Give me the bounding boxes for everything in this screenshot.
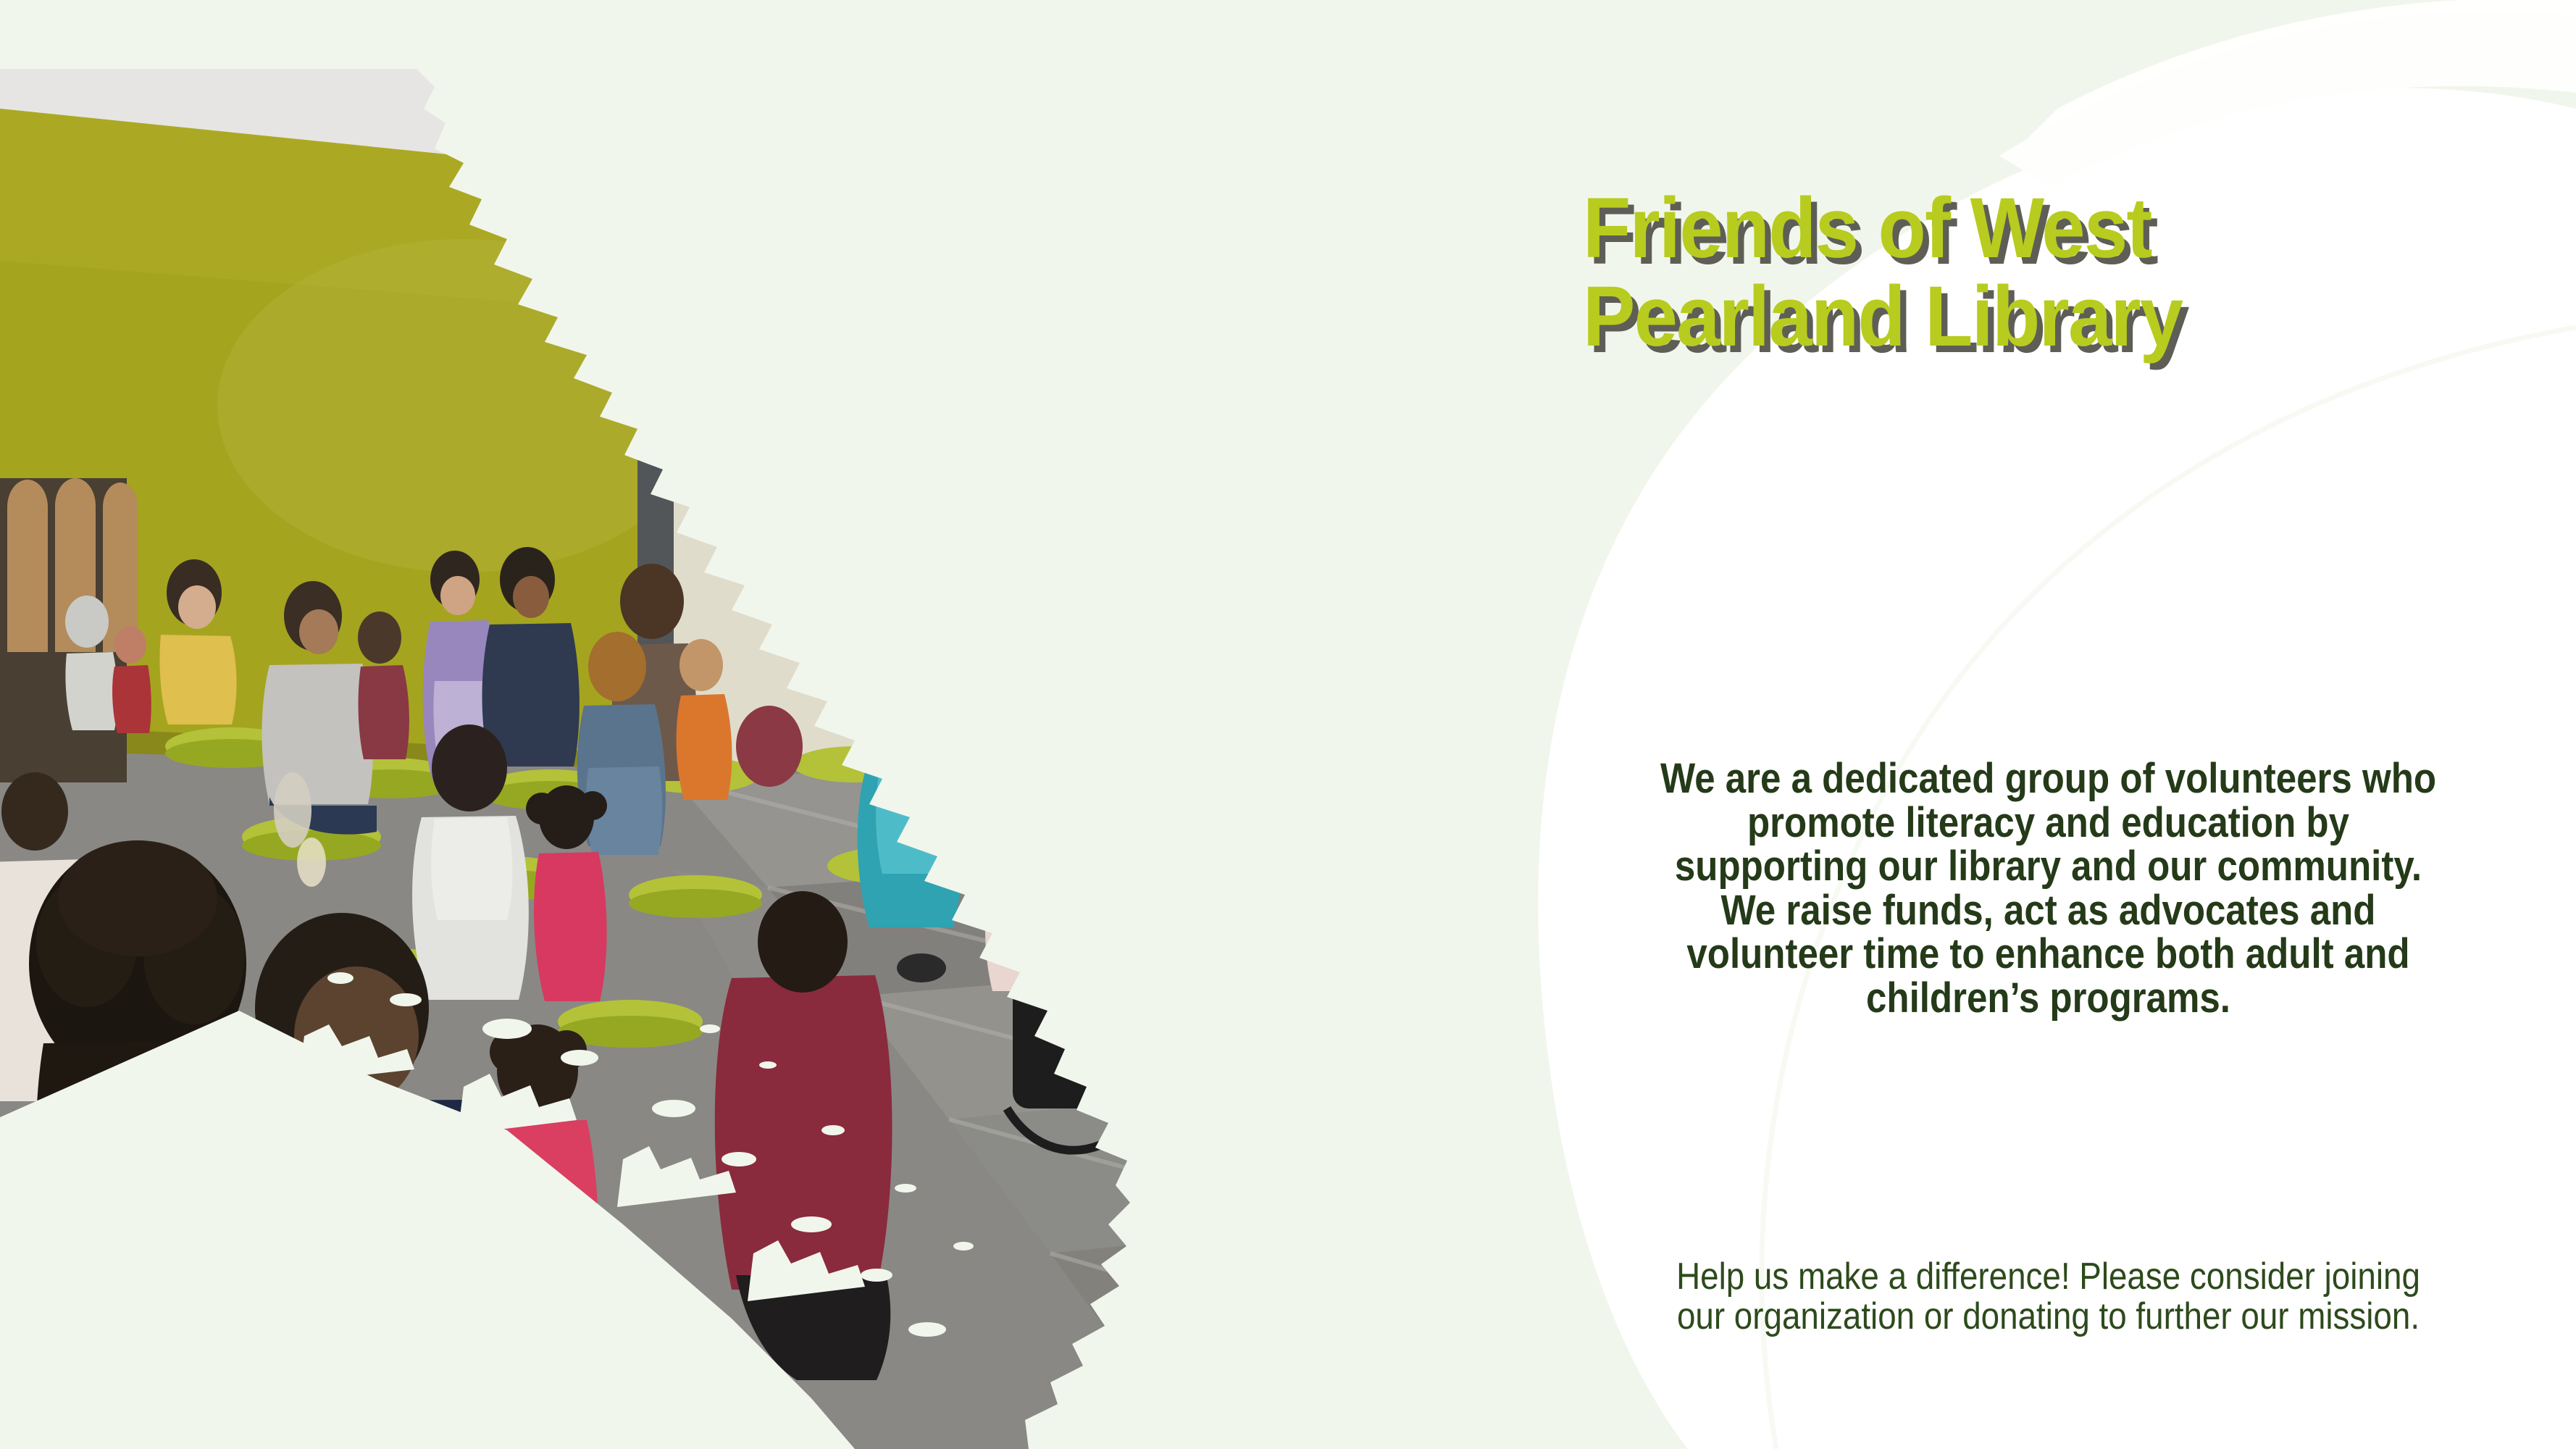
mission-line-2: promote literacy and education by <box>1610 801 2487 845</box>
mission-line-3: supporting our library and our community… <box>1610 845 2487 889</box>
mission-line-1: We are a dedicated group of volunteers w… <box>1610 757 2487 801</box>
title-line-2: Pearland Library <box>1583 273 2470 362</box>
slide-canvas: Time For a Book! <box>0 0 2576 1449</box>
story-time-photo: Time For a Book! <box>0 0 1579 1449</box>
cta-line-1: Help us make a difference! Please consid… <box>1610 1257 2487 1297</box>
title-line-1: Friends of West <box>1583 185 2470 273</box>
text-column: Friends of West Pearland Library We are … <box>1521 0 2576 1449</box>
mission-line-6: children’s programs. <box>1610 977 2487 1021</box>
screen-text-line2: Book! <box>1121 391 1207 427</box>
mission-line-5: volunteer time to enhance both adult and <box>1610 932 2487 977</box>
mission-line-4: We raise funds, act as advocates and <box>1610 889 2487 933</box>
page-title: Friends of West Pearland Library <box>1583 185 2546 361</box>
screen-text-line1: Time For a <box>1085 341 1243 378</box>
cta-line-2: our organization or donating to further … <box>1610 1297 2487 1337</box>
mission-statement: We are a dedicated group of volunteers w… <box>1550 757 2546 1021</box>
call-to-action: Help us make a difference! Please consid… <box>1550 1257 2546 1337</box>
